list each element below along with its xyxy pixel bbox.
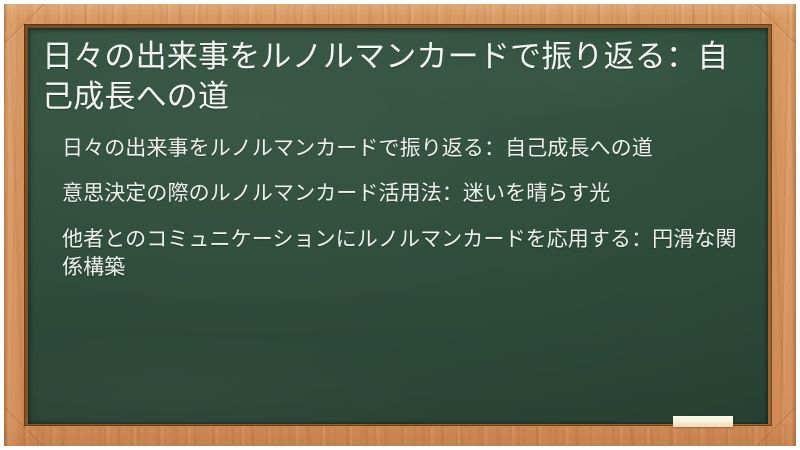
board-content: 日々の出来事をルノルマンカードで振り返る：自己成長への道 日々の出来事をルノルマ… [28, 28, 768, 424]
list-item[interactable]: 他者とのコミュニケーションにルノルマンカードを応用する：円滑な関係構築 [62, 225, 742, 282]
page-title: 日々の出来事をルノルマンカードで振り返る：自己成長への道 [36, 37, 748, 118]
chalk-stick-icon [673, 416, 733, 427]
chalkboard-surface: 日々の出来事をルノルマンカードで振り返る：自己成長への道 日々の出来事をルノルマ… [28, 28, 768, 424]
blackboard-slide: 日々の出来事をルノルマンカードで振り返る：自己成長への道 日々の出来事をルノルマ… [0, 0, 800, 450]
list-item[interactable]: 日々の出来事をルノルマンカードで振り返る：自己成長への道 [62, 134, 742, 163]
list-item[interactable]: 意思決定の際のルノルマンカード活用法：迷いを晴らす光 [62, 179, 742, 208]
article-list: 日々の出来事をルノルマンカードで振り返る：自己成長への道 意思決定の際のルノルマ… [36, 134, 756, 282]
